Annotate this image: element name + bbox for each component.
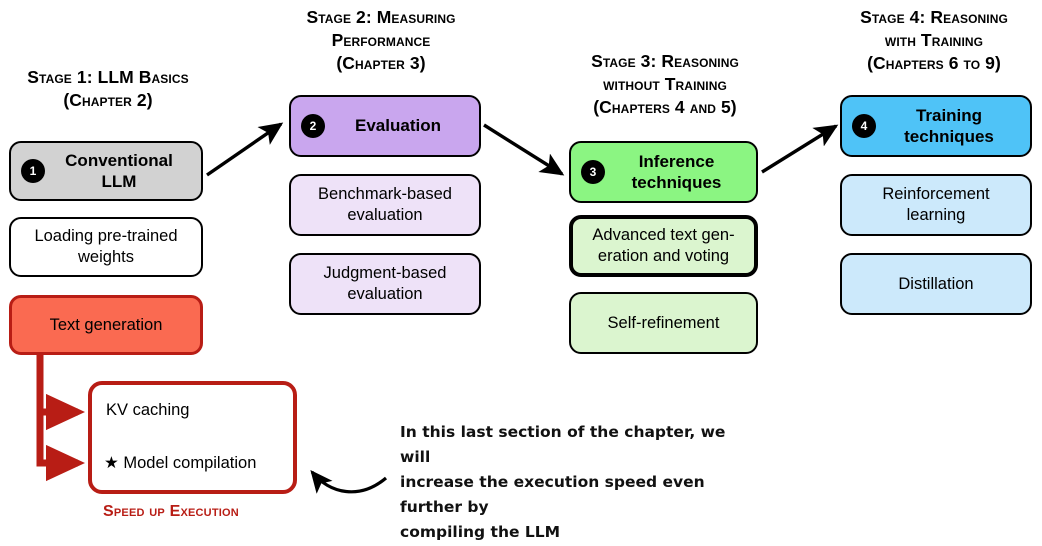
stage2-heading-line2: Performance [272, 29, 490, 52]
node-conventional-llm[interactable]: 1 Conventional LLM [9, 141, 203, 201]
node-self-refinement-label: Self-refinement [579, 313, 748, 334]
stage4-heading-line2: with Training [828, 29, 1040, 52]
badge-stage-3: 3 [581, 160, 605, 184]
annotation-line-3: compiling the LLM [400, 520, 760, 545]
diagram-canvas: Stage 1: LLM Basics (Chapter 2) 1 Conven… [0, 0, 1042, 529]
node-benchmark-based-evaluation-label: Benchmark-based evaluation [299, 184, 471, 225]
node-evaluation[interactable]: 2 Evaluation [289, 95, 481, 157]
node-text-generation[interactable]: Text generation [9, 295, 203, 355]
node-inference-techniques[interactable]: 3 Inference techniques [569, 141, 758, 203]
speedup-item-model-compilation[interactable]: ★ Model compilation [104, 453, 256, 473]
stage3-heading-line2: without Training [556, 73, 774, 96]
stage3-heading: Stage 3: Reasoning without Training (Cha… [556, 50, 774, 119]
speedup-execution-caption: Speed up Execution [103, 503, 239, 521]
arrow-stage3-to-stage4 [762, 126, 836, 172]
star-icon: ★ [104, 454, 119, 472]
node-loading-pretrained-weights[interactable]: Loading pre-trained weights [9, 217, 203, 277]
node-distillation-label: Distillation [850, 274, 1022, 295]
node-advanced-text-generation-and-voting-label: Advanced text gen- eration and voting [581, 225, 746, 266]
stage4-heading-line3: (Chapters 6 to 9) [828, 52, 1040, 75]
stage1-heading: Stage 1: LLM Basics (Chapter 2) [2, 66, 214, 112]
node-advanced-text-generation-and-voting[interactable]: Advanced text gen- eration and voting [569, 215, 758, 277]
red-connector-lower [40, 412, 78, 463]
badge-stage-1: 1 [21, 159, 45, 183]
node-judgment-based-evaluation-label: Judgment-based evaluation [299, 263, 471, 304]
arrow-stage1-to-stage2 [207, 124, 281, 175]
node-reinforcement-learning[interactable]: Reinforcement learning [840, 174, 1032, 236]
node-benchmark-based-evaluation[interactable]: Benchmark-based evaluation [289, 174, 481, 236]
node-self-refinement[interactable]: Self-refinement [569, 292, 758, 354]
stage2-heading-line3: (Chapter 3) [272, 52, 490, 75]
stage4-heading: Stage 4: Reasoning with Training (Chapte… [828, 6, 1040, 75]
arrow-stage2-to-stage3 [484, 125, 562, 174]
stage1-heading-line1: Stage 1: LLM Basics [2, 66, 214, 89]
speedup-execution-group [88, 381, 297, 494]
node-training-techniques[interactable]: 4 Training techniques [840, 95, 1032, 157]
node-text-generation-label: Text generation [20, 315, 192, 336]
stage4-heading-line1: Stage 4: Reasoning [828, 6, 1040, 29]
badge-stage-4: 4 [852, 114, 876, 138]
stage3-heading-line1: Stage 3: Reasoning [556, 50, 774, 73]
annotation-line-1: In this last section of the chapter, we … [400, 420, 760, 470]
node-conventional-llm-label: Conventional LLM [19, 150, 193, 193]
speedup-item-kv-caching[interactable]: KV caching [106, 401, 189, 420]
annotation-text: In this last section of the chapter, we … [400, 420, 760, 546]
stage1-heading-line2: (Chapter 2) [2, 89, 214, 112]
node-reinforcement-learning-label: Reinforcement learning [850, 184, 1022, 225]
node-loading-pretrained-weights-label: Loading pre-trained weights [19, 226, 193, 267]
node-distillation[interactable]: Distillation [840, 253, 1032, 315]
badge-stage-2: 2 [301, 114, 325, 138]
annotation-line-2: increase the execution speed even furthe… [400, 470, 760, 520]
stage2-heading: Stage 2: Measuring Performance (Chapter … [272, 6, 490, 75]
arrow-annotation-to-speedup [312, 472, 386, 492]
stage3-heading-line3: (Chapters 4 and 5) [556, 96, 774, 119]
node-judgment-based-evaluation[interactable]: Judgment-based evaluation [289, 253, 481, 315]
stage2-heading-line1: Stage 2: Measuring [272, 6, 490, 29]
